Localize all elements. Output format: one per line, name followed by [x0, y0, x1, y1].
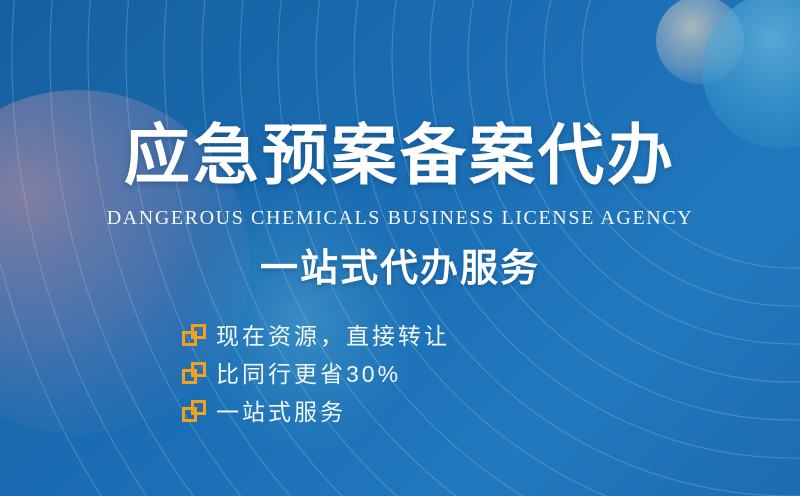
page-title-english: DANGEROUS CHEMICALS BUSINESS LICENSE AGE…	[0, 206, 800, 230]
list-item: 比同行更省30%	[182, 356, 602, 392]
list-item-label: 比同行更省30%	[216, 359, 401, 389]
overlapping-squares-icon	[182, 324, 206, 348]
feature-list: 现在资源，直接转让 比同行更省30% 一站式服务	[182, 318, 602, 432]
overlapping-squares-icon	[182, 362, 206, 386]
promo-banner: 应急预案备案代办 DANGEROUS CHEMICALS BUSINESS LI…	[0, 0, 800, 496]
list-item: 一站式服务	[182, 394, 602, 430]
page-subtitle: 一站式代办服务	[0, 245, 800, 293]
banner-content: 应急预案备案代办 DANGEROUS CHEMICALS BUSINESS LI…	[0, 0, 800, 496]
list-item-label: 一站式服务	[216, 397, 346, 427]
list-item-label: 现在资源，直接转让	[216, 321, 450, 351]
overlapping-squares-icon	[182, 400, 206, 424]
list-item: 现在资源，直接转让	[182, 318, 602, 354]
page-title: 应急预案备案代办	[0, 116, 800, 194]
